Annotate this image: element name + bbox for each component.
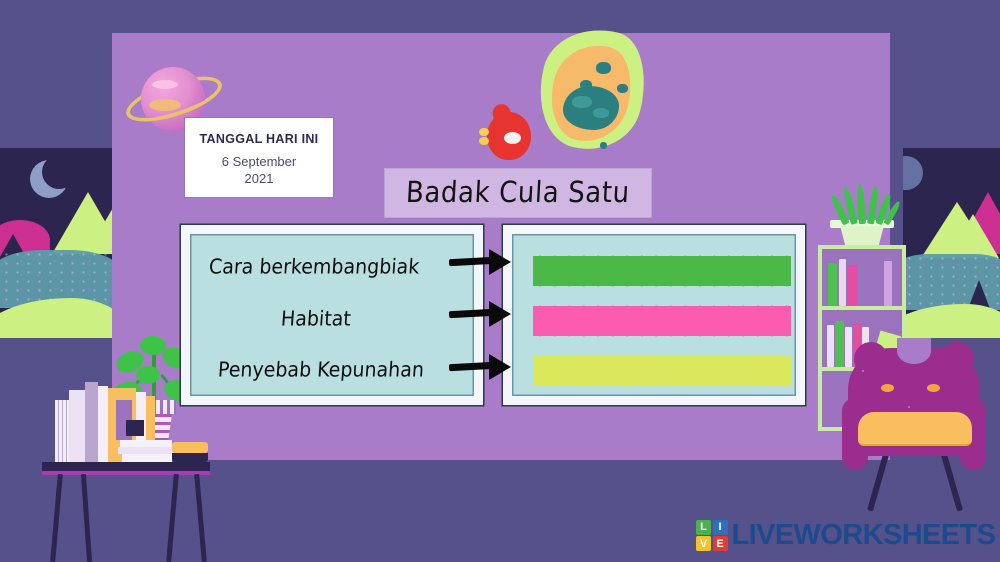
book-stack — [172, 453, 208, 462]
bow-icon — [479, 128, 489, 136]
window-left — [0, 148, 112, 338]
book-stack — [98, 386, 108, 462]
logo-letter-l: L — [696, 520, 711, 535]
shelf-divider — [822, 306, 902, 310]
book — [827, 325, 834, 367]
book — [847, 265, 857, 306]
comet-rock — [600, 142, 607, 149]
liveworksheets-logo[interactable]: L I V E LIVEWORKSHEETS — [696, 519, 995, 552]
worksheet-canvas: TANGGAL HARI INI 6 September 2021 Badak … — [0, 0, 1000, 562]
book-stack — [55, 400, 69, 462]
date-card-title: TANGGAL HARI INI — [200, 132, 319, 146]
answer-blank-2[interactable] — [533, 300, 791, 342]
desk-surface — [42, 462, 210, 471]
logo-wordmark: LIVEWORKSHEETS — [732, 519, 996, 552]
rocket-visor — [504, 132, 521, 144]
label-habitat: Habitat — [280, 307, 351, 331]
blank-scallop-bottom — [533, 379, 791, 392]
mountain-shape — [947, 214, 999, 258]
answer-blank-3[interactable] — [533, 350, 791, 392]
book-detail — [126, 420, 144, 436]
book — [884, 261, 892, 306]
label-penyebab-kepunahan: Penyebab Kepunahan — [217, 358, 425, 382]
chair-seat-cushion — [858, 412, 972, 446]
chair-notch — [897, 338, 931, 364]
date-line-1: 6 September — [222, 154, 296, 169]
desk-edge — [42, 471, 210, 475]
mountain-shape — [86, 206, 112, 254]
book-stack — [69, 390, 85, 462]
book-stack — [120, 440, 172, 447]
moon-icon — [903, 156, 923, 190]
comet-rock — [617, 84, 628, 93]
book-stack — [85, 382, 98, 462]
comet-rock — [566, 106, 572, 112]
label-cara-berkembangbiak: Cara berkembangbiak — [208, 255, 420, 279]
blank-scallop-bottom — [533, 279, 791, 292]
book — [835, 321, 844, 367]
comet-rock — [596, 62, 611, 74]
book-stack — [122, 454, 172, 462]
logo-letter-v: V — [696, 536, 711, 551]
chair-tuft — [881, 384, 894, 392]
book-stack — [172, 442, 208, 453]
logo-letter-i: I — [713, 520, 728, 535]
date-line-2: 2021 — [245, 171, 274, 186]
book-stack — [118, 447, 174, 454]
riverbank-shape — [903, 304, 1000, 338]
window-right — [903, 148, 1000, 338]
bow-icon — [479, 137, 489, 145]
chair-tuft — [927, 384, 940, 392]
date-card: TANGGAL HARI INI 6 September 2021 — [184, 117, 334, 198]
logo-letter-grid: L I V E — [696, 520, 728, 552]
book — [828, 263, 837, 306]
book — [845, 327, 852, 367]
blank-scallop-bottom — [533, 329, 791, 342]
date-card-value: 6 September 2021 — [222, 153, 296, 187]
right-board — [503, 225, 805, 405]
answer-blank-1[interactable] — [533, 250, 791, 292]
worksheet-title-plaque: Badak Cula Satu — [384, 168, 652, 218]
logo-letter-e: E — [713, 536, 728, 551]
comet-rock — [580, 80, 592, 90]
worksheet-title: Badak Cula Satu — [405, 176, 630, 210]
left-board: Cara berkembangbiak Habitat Penyebab Kep… — [181, 225, 483, 405]
book — [839, 259, 846, 306]
